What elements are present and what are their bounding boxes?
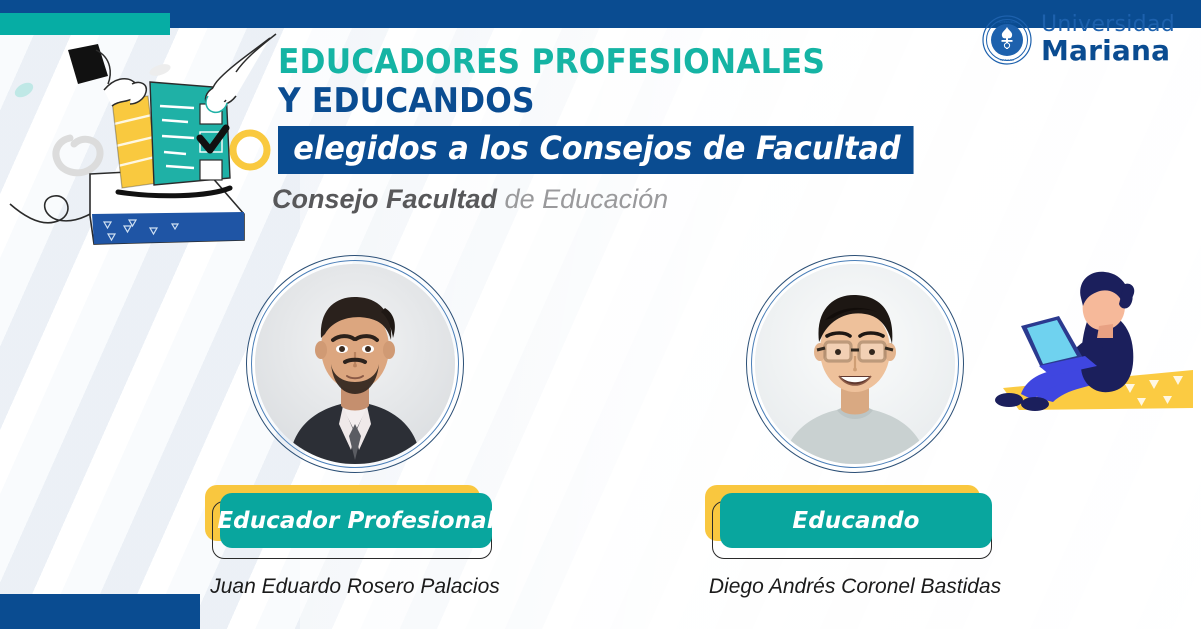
badge-teal-layer: Educando: [720, 493, 992, 548]
headline-block: EDUCADORES PROFESIONALES Y EDUCANDOS ele…: [278, 44, 968, 215]
logo-text-universidad: Universidad: [1041, 14, 1175, 36]
badge-educando: Educando: [675, 485, 1035, 563]
ballot-box-illustration: [8, 28, 280, 260]
person-name-educador: Juan Eduardo Rosero Palacios: [175, 575, 535, 599]
headline-subtitle: Consejo Facultad de Educación: [272, 184, 968, 215]
person-card-educador: Educador Profesional Juan Eduardo Rosero…: [175, 255, 535, 599]
bottom-blue-bar: [0, 594, 200, 629]
badge-educador: Educador Profesional: [175, 485, 535, 563]
avatar-photo-educador: [255, 264, 455, 464]
headline-line-2: Y EDUCANDOS: [278, 83, 913, 120]
avatar: [246, 255, 464, 473]
avatar-photo-educando: [755, 264, 955, 464]
university-seal-icon: UNIVERSIDAD MARIANA: [982, 15, 1032, 65]
university-logo: UNIVERSIDAD MARIANA Universidad Mariana: [982, 14, 1175, 65]
subtitle-light: de Educación: [505, 184, 669, 214]
svg-text:UNIVERSIDAD: UNIVERSIDAD: [997, 20, 1018, 24]
badge-label-educador: Educador Profesional: [217, 508, 494, 534]
avatar: [746, 255, 964, 473]
top-blue-bar: [0, 0, 1201, 13]
subtitle-strong: Consejo Facultad: [272, 184, 497, 214]
headline-line-1: EDUCADORES PROFESIONALES: [278, 44, 913, 81]
badge-teal-layer: Educador Profesional: [220, 493, 492, 548]
person-name-educando: Diego Andrés Coronel Bastidas: [675, 575, 1035, 599]
svg-text:MARIANA: MARIANA: [1000, 58, 1015, 62]
headline-banner: elegidos a los Consejos de Facultad: [278, 126, 914, 173]
person-card-educando: Educando Diego Andrés Coronel Bastidas: [675, 255, 1035, 599]
poster-canvas: UNIVERSIDAD MARIANA Universidad Mariana …: [0, 0, 1201, 629]
logo-text-mariana: Mariana: [1041, 37, 1175, 65]
badge-label-educando: Educando: [792, 508, 919, 534]
